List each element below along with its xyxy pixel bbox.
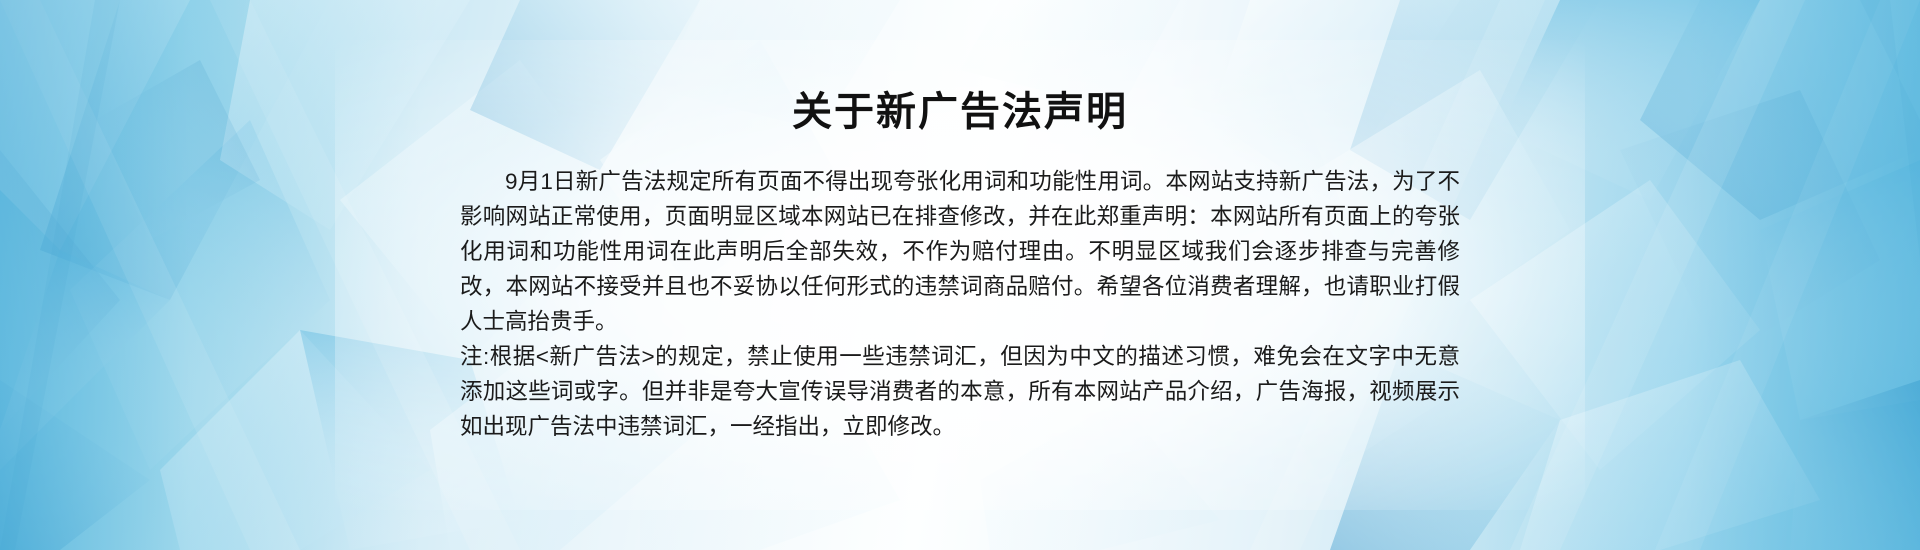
- statement-paragraph-2: 注:根据<新广告法>的规定，禁止使用一些违禁词汇，但因为中文的描述习惯，难免会在…: [460, 339, 1460, 444]
- advertising-law-statement-banner: 关于新广告法声明 9月1日新广告法规定所有页面不得出现夸张化用词和功能性用词。本…: [0, 0, 1920, 550]
- statement-content: 关于新广告法声明 9月1日新广告法规定所有页面不得出现夸张化用词和功能性用词。本…: [460, 0, 1460, 444]
- page-title: 关于新广告法声明: [460, 88, 1460, 136]
- statement-paragraph-1: 9月1日新广告法规定所有页面不得出现夸张化用词和功能性用词。本网站支持新广告法，…: [460, 164, 1460, 339]
